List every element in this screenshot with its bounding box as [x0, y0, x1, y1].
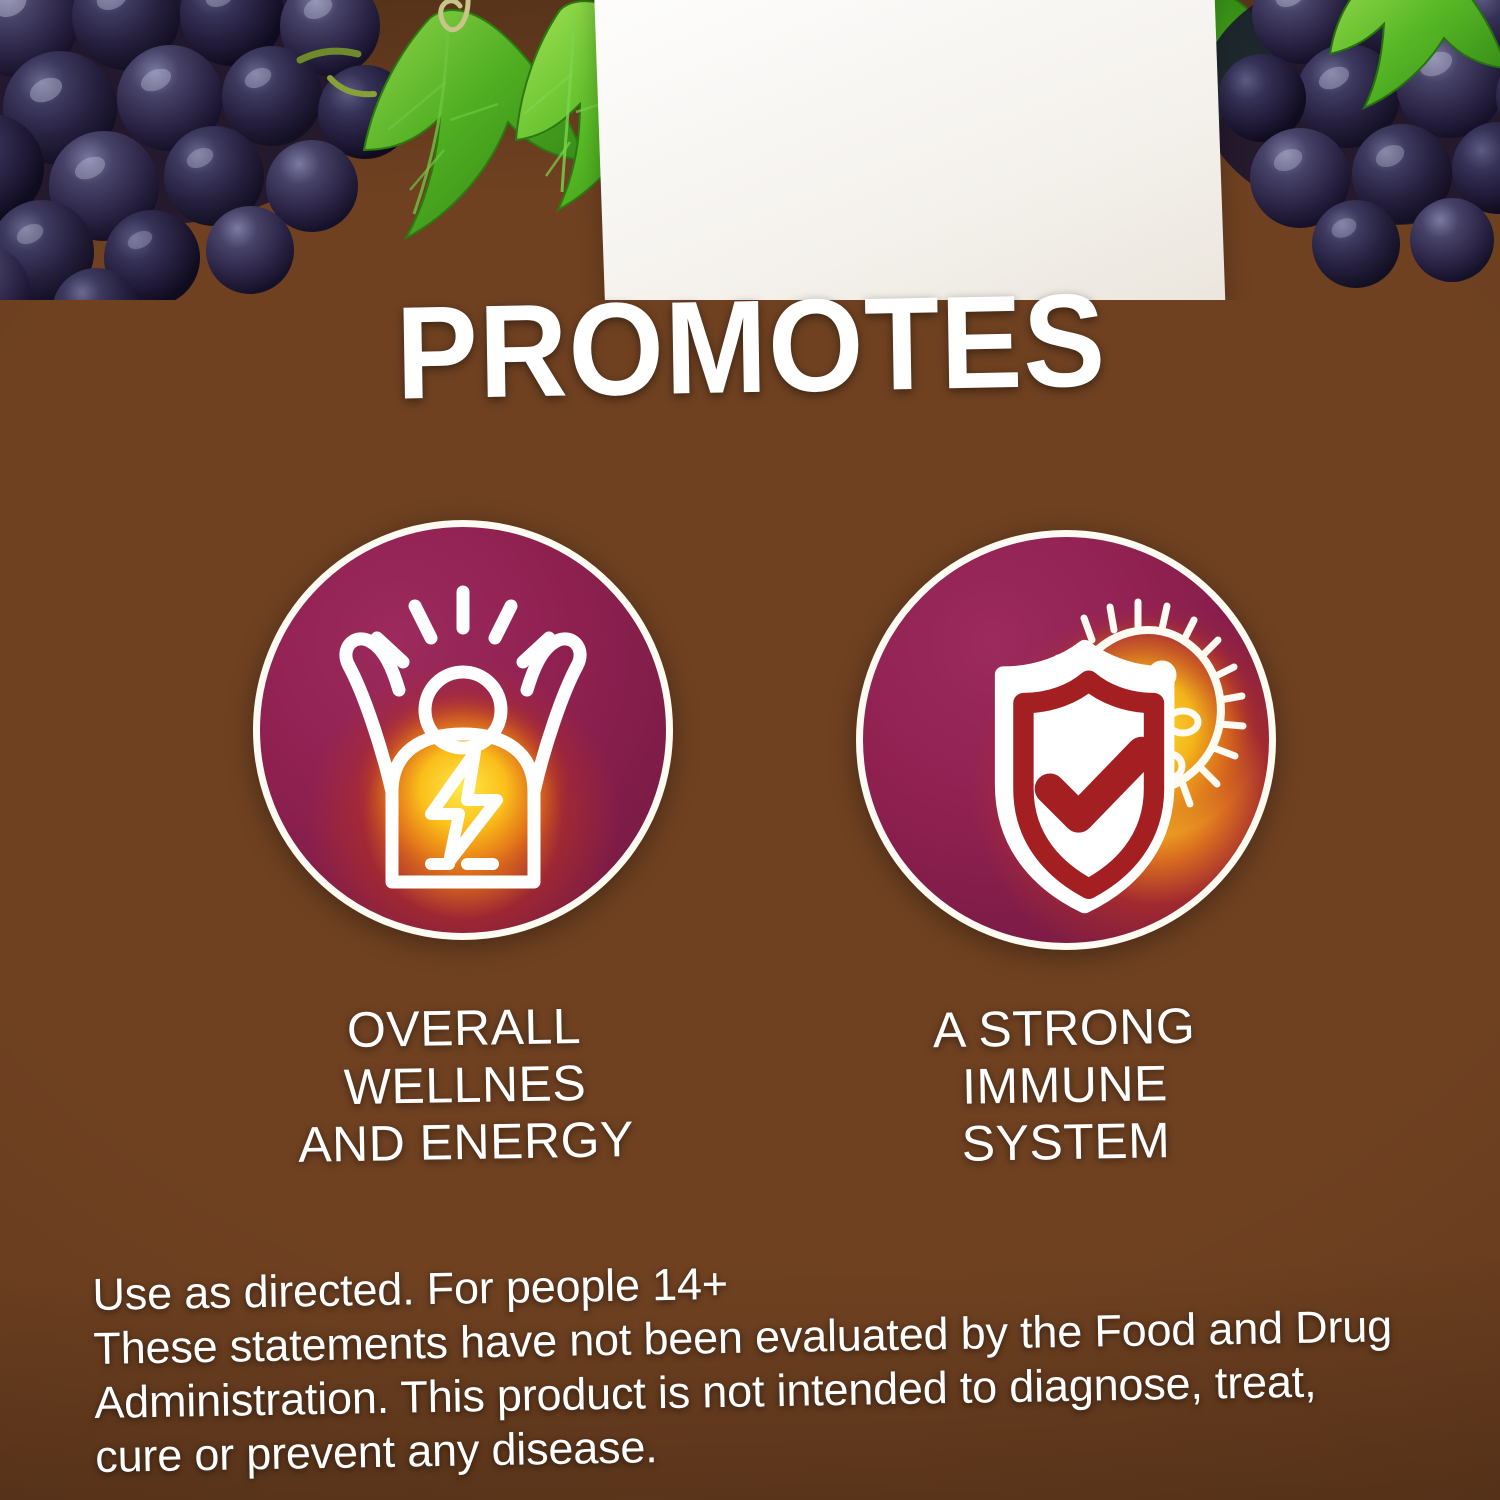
caption-line: IMMUNE — [880, 1054, 1251, 1117]
shield-body — [1003, 648, 1166, 905]
caption-overall-wellness-energy: OVERALL WELLNES AND ENERGY — [269, 997, 662, 1175]
person-energy-icon — [253, 520, 673, 940]
caption-strong-immune-system: A STRONG IMMUNE SYSTEM — [879, 997, 1252, 1174]
poster-canvas: PROMOTES — [0, 0, 1500, 1500]
caption-line: WELLNES — [270, 1054, 661, 1118]
caption-line: SYSTEM — [881, 1111, 1252, 1174]
caption-line: OVERALL — [269, 997, 660, 1061]
badge-overall-wellness-energy[interactable] — [253, 520, 673, 940]
caption-line: A STRONG — [879, 997, 1250, 1060]
caption-line: AND ENERGY — [271, 1111, 662, 1175]
shield-germ-icon — [856, 530, 1276, 950]
disclaimer-text: Use as directed. For people 14+ These st… — [92, 1244, 1496, 1484]
badge-strong-immune-system[interactable] — [856, 530, 1276, 950]
